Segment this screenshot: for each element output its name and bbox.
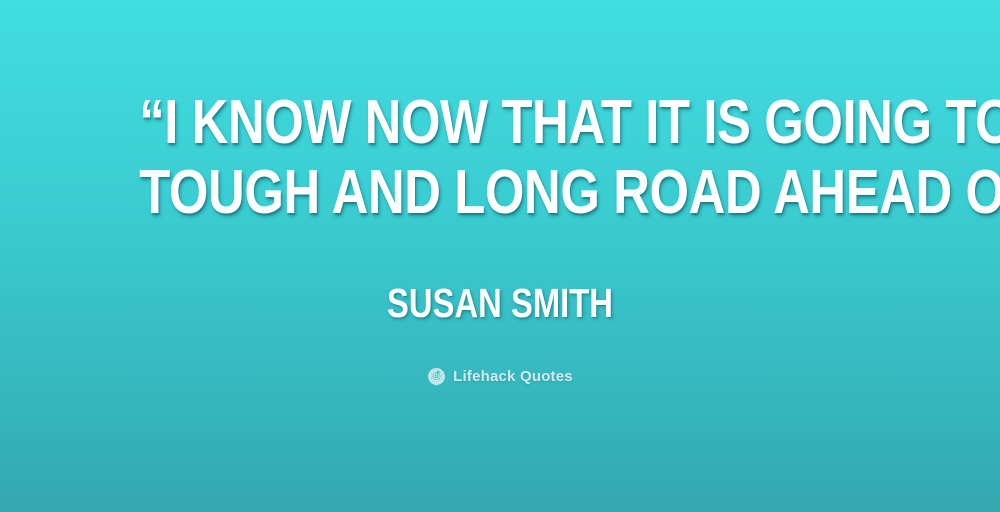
quote-image-card: “I KNOW NOW THAT IT IS GOING TO BE A TOU…	[0, 0, 1000, 512]
brand-footer: Lifehack Quotes	[0, 367, 1000, 386]
lifehack-circle-logo-icon	[427, 367, 446, 386]
brand-label: Lifehack Quotes	[453, 367, 573, 386]
quote-line-2: TOUGH AND LONG ROAD AHEAD OF ME.”	[139, 158, 861, 228]
quote-author-name: SUSAN SMITH	[100, 282, 900, 324]
quote-text-block: “I KNOW NOW THAT IT IS GOING TO BE A TOU…	[0, 88, 1000, 228]
quote-line-1: “I KNOW NOW THAT IT IS GOING TO BE A	[139, 88, 861, 158]
